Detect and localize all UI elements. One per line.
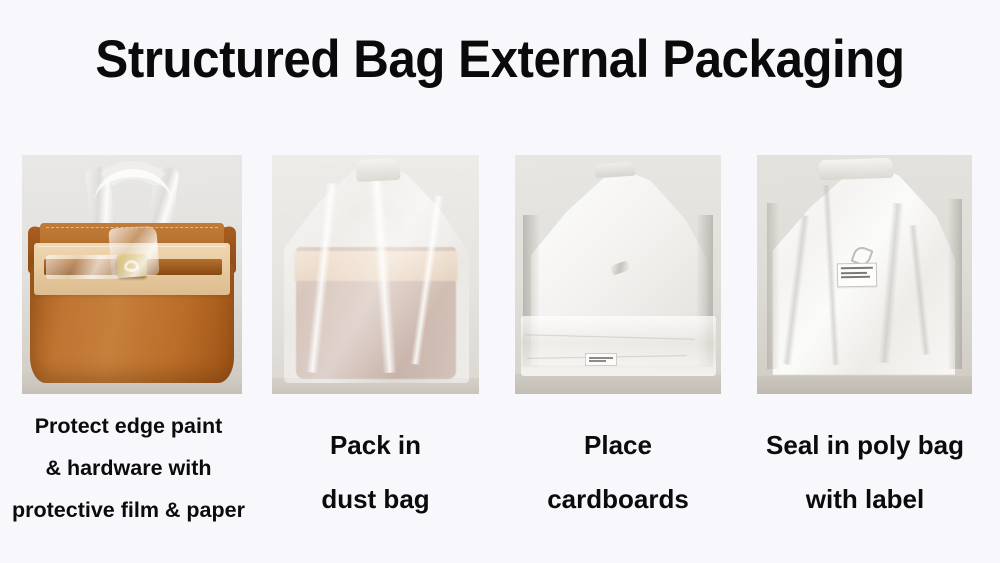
step-1 xyxy=(22,155,242,394)
caption-line: Protect edge paint xyxy=(0,405,271,447)
label-print-lines xyxy=(589,356,613,364)
caption-line: protective film & paper xyxy=(0,489,271,531)
shipping-label xyxy=(837,263,877,288)
photo-seal-in-poly-bag xyxy=(757,155,972,394)
caption-line: & hardware with xyxy=(0,447,271,489)
photo-pack-in-dust-bag xyxy=(272,155,479,394)
poly-bag-edge-right xyxy=(948,199,962,369)
poly-bag-seal xyxy=(819,158,894,181)
caption-line: dust bag xyxy=(272,472,479,526)
packaging-label xyxy=(585,353,617,366)
caption-step-2: Pack in dust bag xyxy=(272,418,479,526)
step-4 xyxy=(757,155,972,394)
caption-line: Place xyxy=(508,418,728,472)
caption-line: Pack in xyxy=(272,418,479,472)
dust-bag-top-gather xyxy=(355,158,400,182)
dust-bag-top-gather xyxy=(595,162,636,179)
photo-protect-edge-paint xyxy=(22,155,242,394)
caption-step-1: Protect edge paint & hardware with prote… xyxy=(0,405,271,531)
caption-step-3: Place cardboards xyxy=(508,418,728,526)
protective-film-clasp xyxy=(108,225,159,278)
caption-line: cardboards xyxy=(508,472,728,526)
caption-line: with label xyxy=(745,472,985,526)
surface-shadow xyxy=(757,376,972,394)
step-3 xyxy=(515,155,721,394)
caption-step-4: Seal in poly bag with label xyxy=(745,418,985,526)
poly-bag-edge-left xyxy=(767,203,779,369)
step-2 xyxy=(272,155,479,394)
surface-shadow xyxy=(515,374,721,394)
packaging-infographic: Structured Bag External Packaging xyxy=(0,0,1000,563)
caption-line: Seal in poly bag xyxy=(745,418,985,472)
page-title: Structured Bag External Packaging xyxy=(35,30,965,90)
photo-place-cardboards xyxy=(515,155,721,394)
poly-sheet-base xyxy=(521,316,716,376)
